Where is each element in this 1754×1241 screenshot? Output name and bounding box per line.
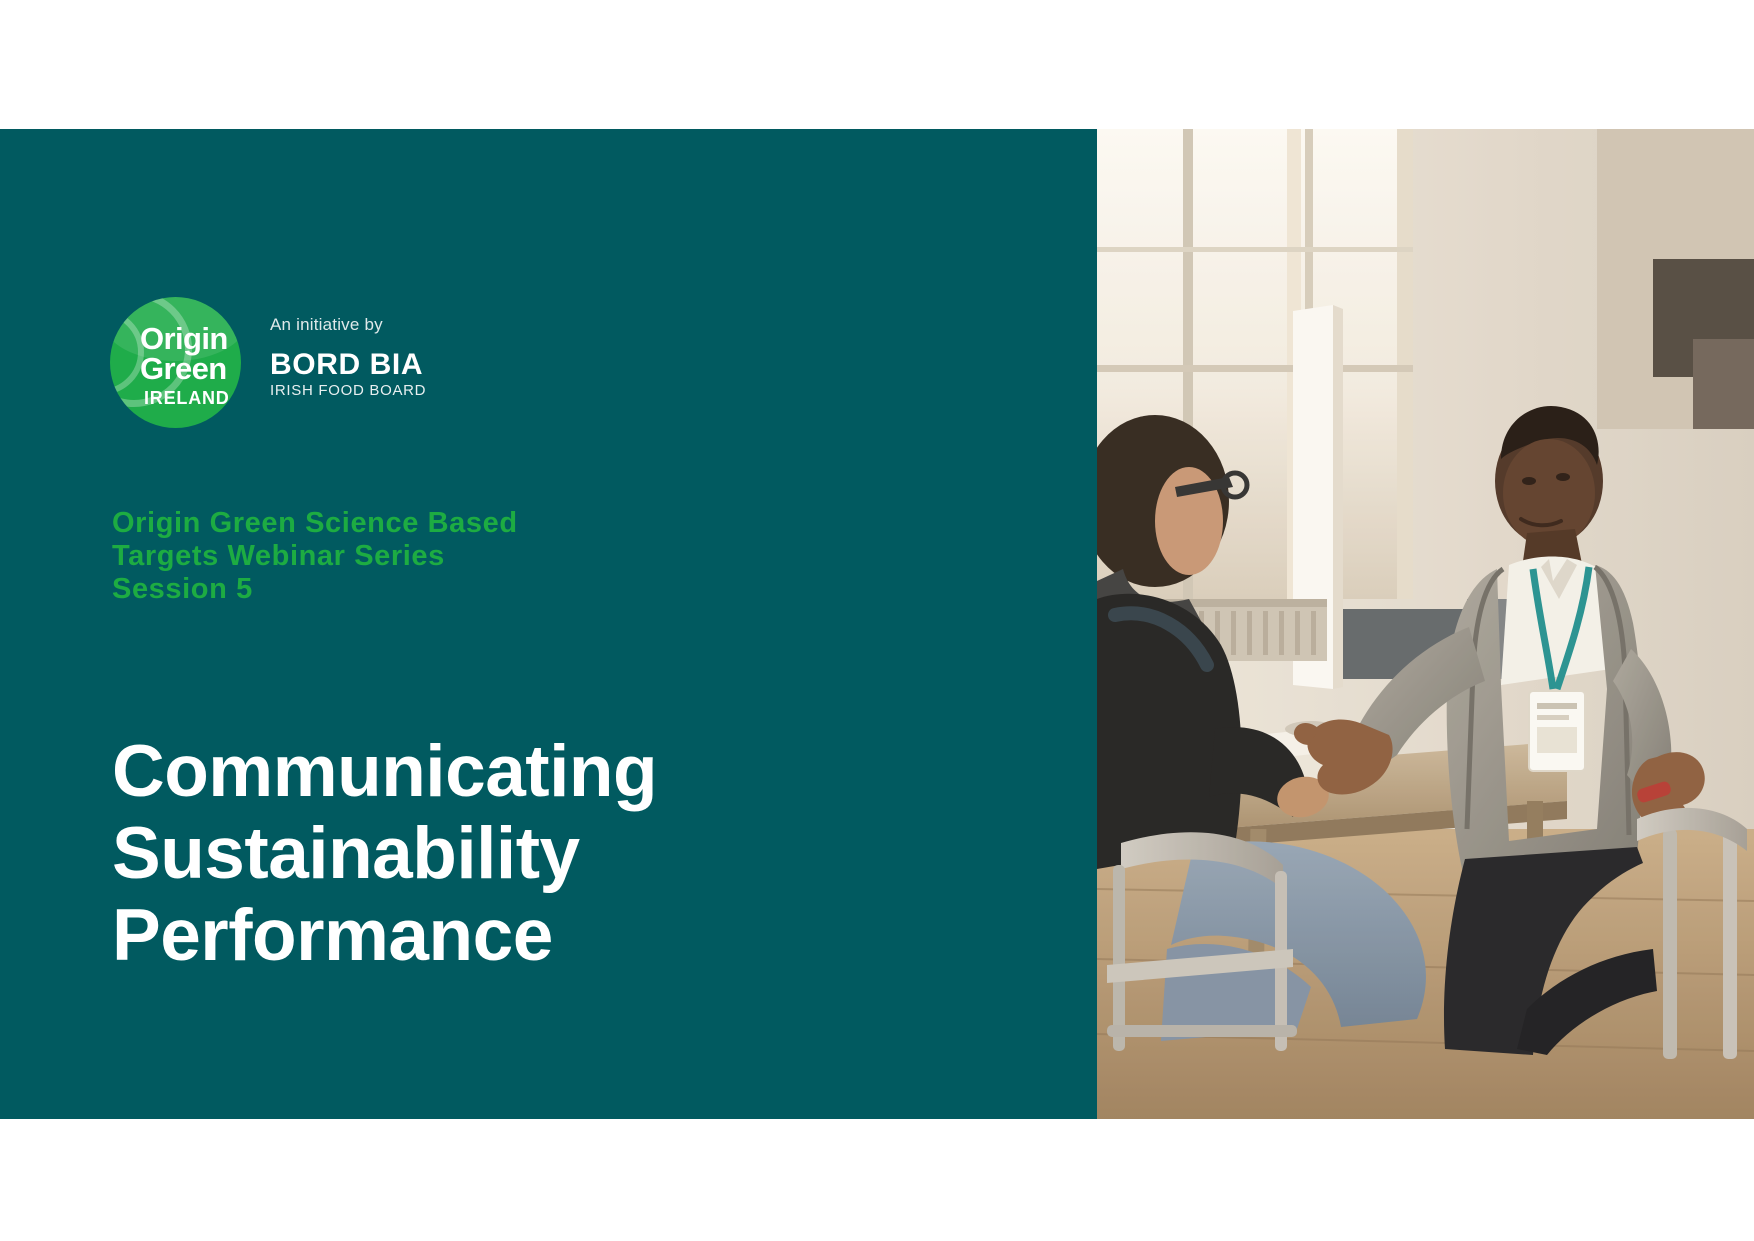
origin-green-word-origin: Origin (140, 323, 228, 354)
origin-green-logo-text: Origin Green IRELAND (110, 297, 241, 428)
series-eyebrow-heading: Origin Green Science Based Targets Webin… (112, 507, 752, 606)
bord-bia-logo: An initiative by BORD BIA IRISH FOOD BOA… (270, 315, 530, 399)
accenture-wordmark: accenture (112, 1147, 344, 1203)
origin-green-word-green: Green (140, 353, 227, 384)
bord-bia-initiative-label: An initiative by (270, 315, 530, 335)
origin-green-word-ireland: IRELAND (144, 389, 230, 407)
accenture-logo: accenture (112, 1129, 412, 1209)
bord-bia-wordmark: BORD BIA (270, 349, 530, 380)
teal-content-panel: Origin Green IRELAND An initiative by BO… (0, 129, 1097, 1119)
logo-lockup: Origin Green IRELAND An initiative by BO… (110, 297, 530, 427)
hero-photograph (1097, 129, 1754, 1119)
bord-bia-subtitle: IRISH FOOD BOARD (270, 382, 530, 399)
origin-green-logo-icon: Origin Green IRELAND (110, 297, 241, 428)
slide-title: Communicating Sustainability Performance (112, 731, 952, 977)
slide-canvas: Origin Green IRELAND An initiative by BO… (0, 0, 1754, 1241)
